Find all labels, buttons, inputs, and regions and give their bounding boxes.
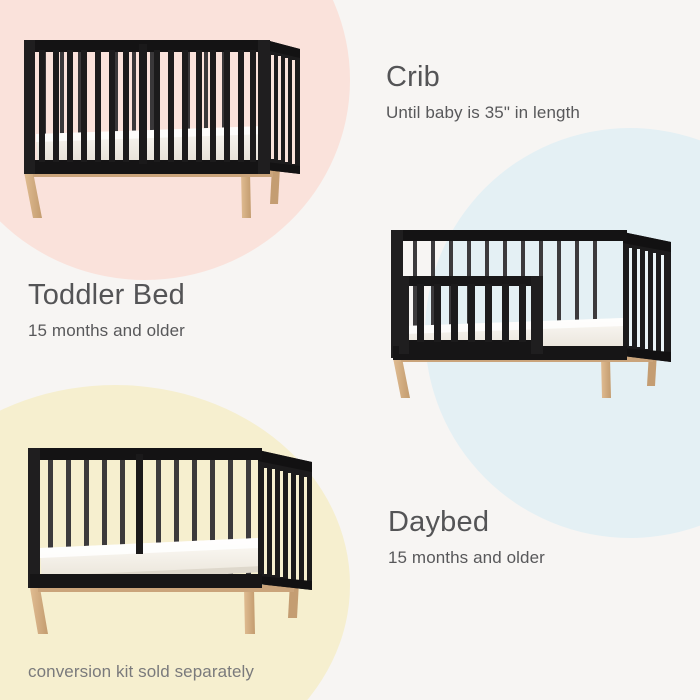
toddler-bed-end-panel-right	[623, 232, 671, 362]
crib-end-panel-right	[266, 40, 300, 174]
daybed-photo	[12, 438, 328, 638]
crib-legs	[24, 167, 280, 218]
conversion-kit-footnote: conversion kit sold separately	[28, 662, 254, 682]
toddler-bed-guard-rail	[399, 276, 543, 354]
toddler-bed-title: Toddler Bed	[28, 281, 185, 310]
crib-title: Crib	[386, 63, 580, 92]
crib-subtitle: Until baby is 35" in length	[386, 104, 580, 121]
daybed-end-panel-right	[258, 450, 312, 590]
daybed-subtitle: 15 months and older	[388, 549, 545, 566]
stage-label-daybed: Daybed 15 months and older	[388, 508, 545, 566]
daybed-legs	[30, 582, 299, 634]
toddler-bed-subtitle: 15 months and older	[28, 322, 185, 339]
daybed-title: Daybed	[388, 508, 545, 537]
infographic-canvas: Crib Until baby is 35" in length Toddler…	[0, 0, 700, 700]
crib-photo	[8, 22, 308, 222]
stage-label-toddler-bed: Toddler Bed 15 months and older	[28, 281, 185, 339]
toddler-bed-photo	[373, 222, 685, 402]
stage-label-crib: Crib Until baby is 35" in length	[386, 63, 580, 121]
